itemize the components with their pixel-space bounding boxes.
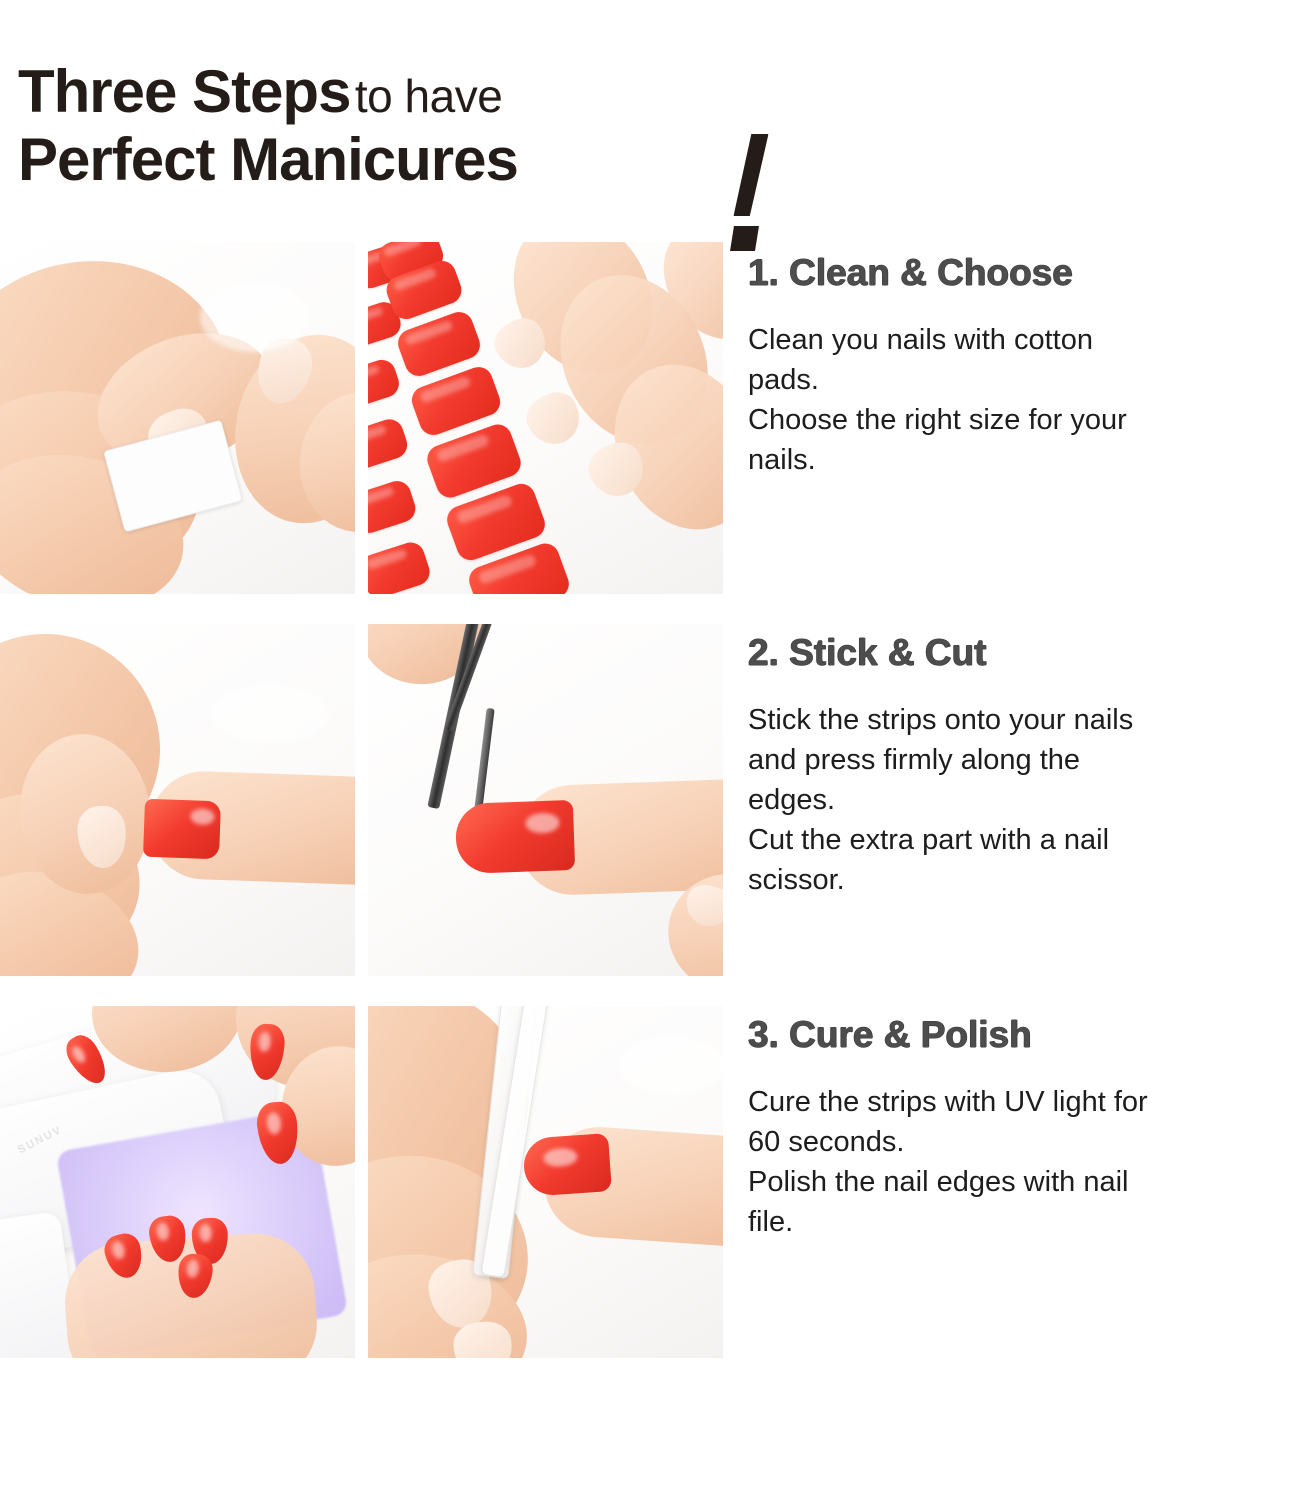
step-2-line-2: and press firmly along the <box>748 740 1300 780</box>
step-3-heading: 3. Cure & Polish <box>748 1014 1300 1056</box>
title-line-1: Three Steps to have <box>18 62 502 122</box>
title-line-2: Perfect Manicures <box>18 130 518 190</box>
step-2-line-5: scissor. <box>748 860 1300 900</box>
exclamation-mark-icon <box>718 134 788 254</box>
step-2-line-3: edges. <box>748 780 1300 820</box>
photo-grid: SUNUV <box>0 242 733 1358</box>
step-2: 2. Stick & Cut Stick the strips onto you… <box>748 632 1300 900</box>
step-2-line-4: Cut the extra part with a nail <box>748 820 1300 860</box>
step-1-line-3: Choose the right size for your <box>748 400 1300 440</box>
photo-cut-with-scissors <box>368 624 723 976</box>
step-1: 1. Clean & Choose Clean you nails with c… <box>748 252 1300 480</box>
photo-cure-under-uv-lamp: SUNUV <box>0 1006 355 1358</box>
step-3-line-3: Polish the nail edges with nail <box>748 1162 1300 1202</box>
photo-clean-with-cotton-pad <box>0 242 355 594</box>
step-2-heading: 2. Stick & Cut <box>748 632 1300 674</box>
step-1-body: Clean you nails with cotton pads. Choose… <box>748 320 1300 480</box>
photo-polish-with-nail-file <box>368 1006 723 1358</box>
page-title: Three Steps to have Perfect Manicures <box>18 62 798 202</box>
step-2-body: Stick the strips onto your nails and pre… <box>748 700 1300 900</box>
title-strong-2: Perfect Manicures <box>18 126 518 193</box>
title-strong-1: Three Steps <box>18 58 350 125</box>
step-3: 3. Cure & Polish Cure the strips with UV… <box>748 1014 1300 1242</box>
exclamation-stem <box>734 134 769 216</box>
exclamation-dot <box>730 226 759 251</box>
infographic-page: Three Steps to have Perfect Manicures <box>0 0 1300 1500</box>
title-light-1: to have <box>355 70 502 122</box>
photo-stick-strip-on-nail <box>0 624 355 976</box>
step-3-line-2: 60 seconds. <box>748 1122 1300 1162</box>
step-3-line-1: Cure the strips with UV light for <box>748 1082 1300 1122</box>
photo-nail-strip-sheet <box>368 242 723 594</box>
step-3-body: Cure the strips with UV light for 60 sec… <box>748 1082 1300 1242</box>
step-2-line-1: Stick the strips onto your nails <box>748 700 1300 740</box>
step-1-line-2: pads. <box>748 360 1300 400</box>
step-1-line-1: Clean you nails with cotton <box>748 320 1300 360</box>
step-3-line-4: file. <box>748 1202 1300 1242</box>
step-1-line-4: nails. <box>748 440 1300 480</box>
step-1-heading: 1. Clean & Choose <box>748 252 1300 294</box>
